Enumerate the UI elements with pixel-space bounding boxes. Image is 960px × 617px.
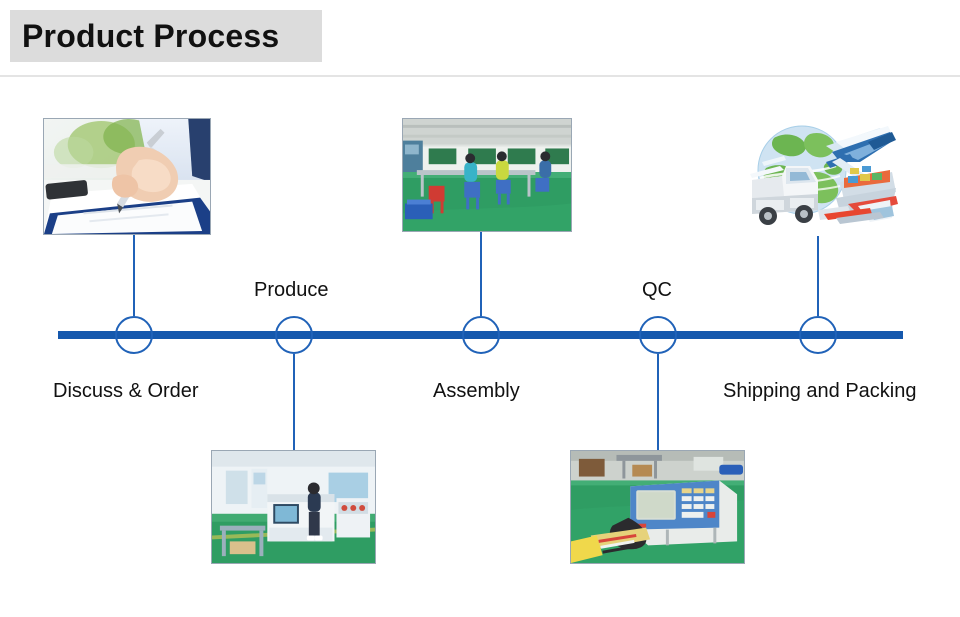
node-produce[interactable] [275, 316, 313, 354]
header-divider [0, 75, 960, 77]
page-title-text: Product Process [22, 20, 279, 52]
photo-global-logistics [740, 118, 900, 236]
page-title: Product Process [10, 10, 322, 62]
qc-test-equipment-illustration [571, 451, 744, 563]
photo-qc-test-equipment [570, 450, 745, 564]
stage-label-discuss-order: Discuss & Order [53, 381, 199, 401]
connector-produce [293, 354, 295, 450]
connector-shipping [817, 230, 819, 316]
node-shipping[interactable] [799, 316, 837, 354]
signing-contract-illustration [44, 119, 210, 234]
production-workshop-illustration [212, 451, 375, 563]
stage-label-assembly: Assembly [433, 381, 520, 401]
stage-label-qc: QC [642, 280, 672, 300]
connector-discuss-order [133, 235, 135, 316]
slide-canvas: Product Process Discuss & Order [0, 0, 960, 617]
node-discuss-order[interactable] [115, 316, 153, 354]
global-logistics-illustration [740, 118, 900, 236]
stage-label-shipping: Shipping and Packing [723, 381, 916, 401]
assembly-line-illustration [403, 119, 571, 231]
stage-label-produce: Produce [254, 280, 329, 300]
photo-production-workshop [211, 450, 376, 564]
node-qc[interactable] [639, 316, 677, 354]
node-assembly[interactable] [462, 316, 500, 354]
photo-assembly-line [402, 118, 572, 232]
connector-assembly [480, 232, 482, 316]
photo-signing-contract [43, 118, 211, 235]
connector-qc [657, 354, 659, 450]
